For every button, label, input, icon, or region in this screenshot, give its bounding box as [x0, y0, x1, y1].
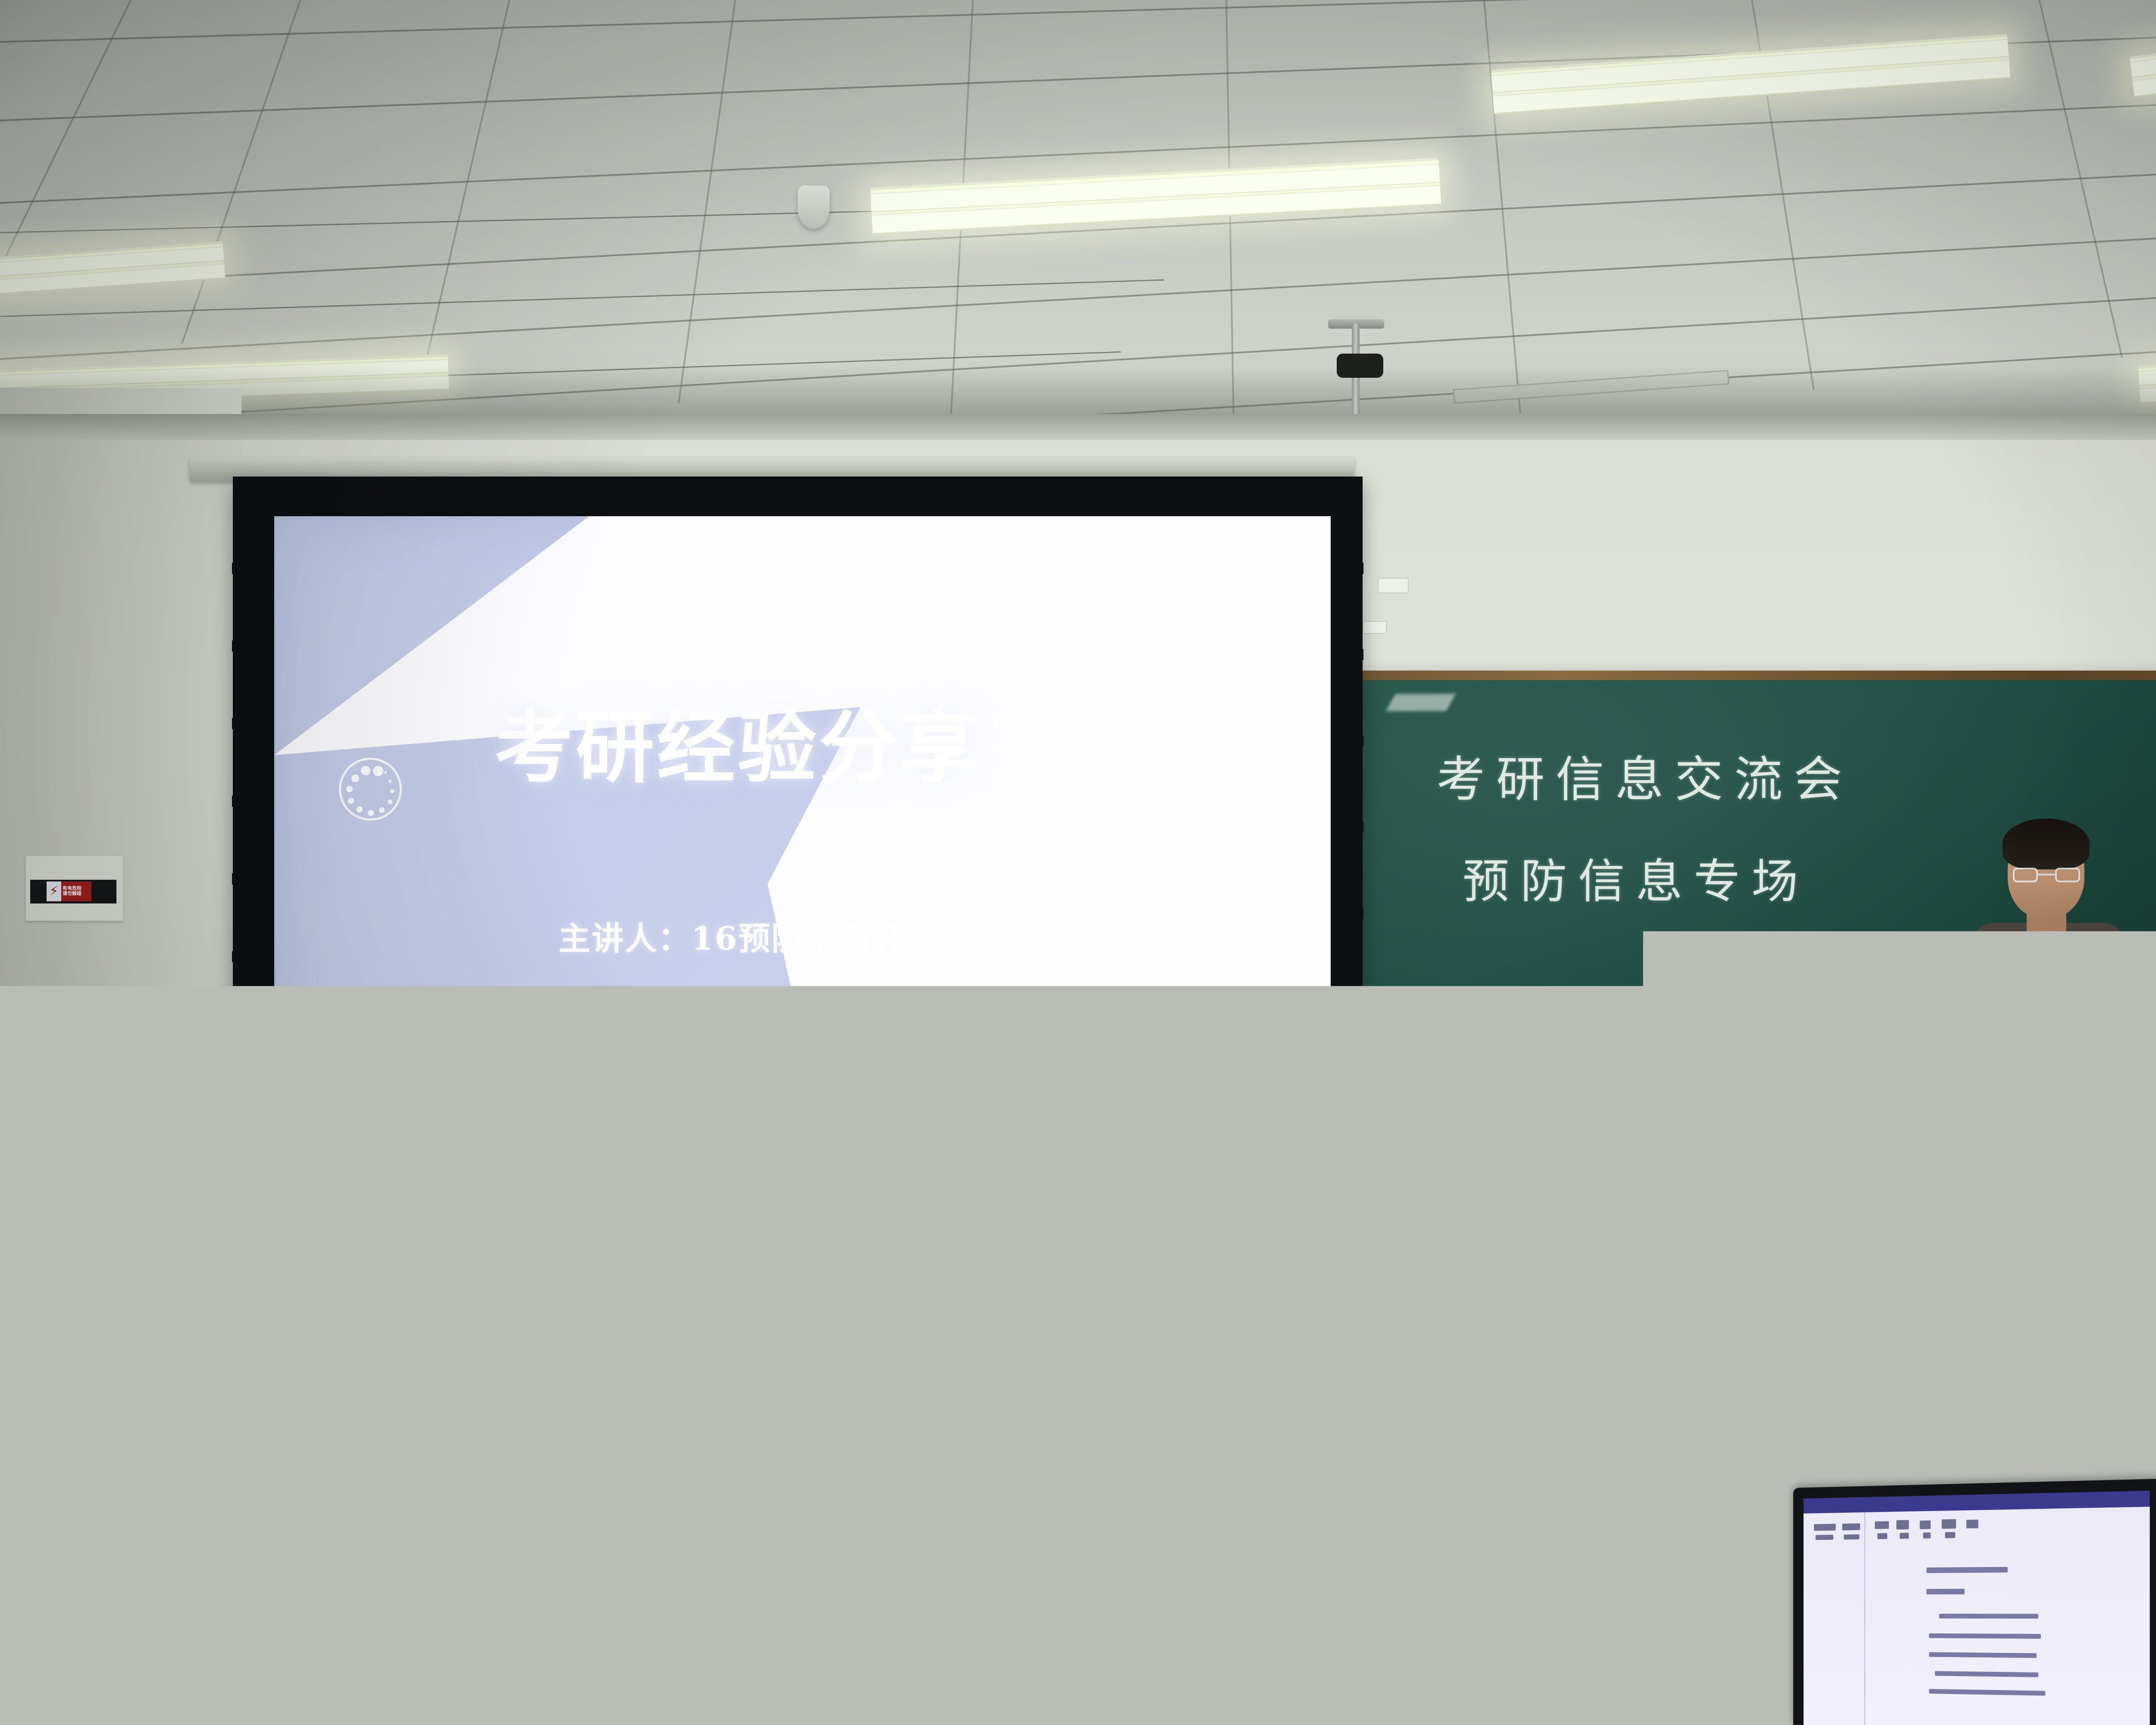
glasses-icon	[2013, 868, 2080, 882]
screen-brand-label	[1233, 1179, 1289, 1186]
presentation-slide: 考研经验分享 主讲人：16预防申禹轩	[274, 516, 1331, 1146]
wall-tag	[1378, 578, 1409, 593]
podium-right-shelf	[2139, 1147, 2156, 1165]
microphone-cord	[2040, 1031, 2043, 1138]
power-outlet[interactable]	[1104, 1223, 1131, 1260]
wall-ceiling-trim	[0, 414, 2156, 440]
ceiling-light-fixture	[0, 241, 225, 296]
power-outlet[interactable]	[364, 1225, 388, 1258]
laptop-screen[interactable]	[1804, 1491, 2150, 1725]
classroom-scene: ⚡ 有电危险 请勿触碰 考研信息交流会 预防信息专场	[0, 0, 2156, 1725]
cola-bottle-icon	[128, 1184, 158, 1285]
speaker-hair	[2002, 819, 2090, 869]
backpack-script: Any	[198, 1465, 238, 1489]
lightning-bolt-icon: ⚡	[47, 881, 61, 901]
laptop-titlebar	[1804, 1491, 2150, 1514]
slide-subtitle: 主讲人：16预防申禹轩	[274, 913, 1331, 959]
ceiling-light-fixture	[2129, 0, 2156, 97]
hazard-sign-panel: ⚡ 有电危险 请勿触碰	[30, 880, 116, 903]
projection-screen-frame: 考研经验分享 主讲人：16预防申禹轩	[233, 477, 1363, 1197]
pink-thermos-icon	[372, 1364, 416, 1545]
blackboard-glare	[1386, 694, 1456, 711]
desk-foot	[1489, 1609, 1512, 1620]
hazard-sign-plate: ⚡ 有电危险 请勿触碰	[26, 856, 123, 921]
projector-head	[1337, 354, 1383, 378]
green-water-bottle-icon	[1690, 1565, 1755, 1725]
glasses-icon	[9, 1199, 73, 1220]
monitor-back	[142, 1164, 310, 1272]
hood	[874, 1212, 1012, 1289]
shirt-logo: C	[2086, 1000, 2101, 1019]
mic-holder-icon	[1824, 1098, 1829, 1124]
wall-tag	[1363, 621, 1387, 634]
hazard-sign-line2: 请勿触碰	[63, 891, 91, 897]
podium-slot	[1927, 1176, 2057, 1191]
blackboard-line-2: 预防信息专场	[1463, 844, 1809, 911]
ceiling-light-fixture	[870, 158, 1441, 235]
pink-backpack: Any	[172, 1423, 341, 1531]
ceiling	[0, 0, 2156, 436]
tissue-ball	[431, 1613, 482, 1645]
power-outlet[interactable]	[1317, 1224, 1344, 1261]
hazard-sign-sticker: ⚡ 有电危险 请勿触碰	[47, 881, 91, 901]
smoke-detector-icon	[798, 185, 830, 229]
ceiling-light-fixture	[1491, 34, 2010, 114]
slide-title: 考研经验分享	[274, 684, 1331, 798]
blackboard-line-1: 考研信息交流会	[1437, 740, 1853, 810]
white-mouse-icon	[1673, 1101, 1709, 1121]
laptop[interactable]	[1793, 1479, 2156, 1725]
